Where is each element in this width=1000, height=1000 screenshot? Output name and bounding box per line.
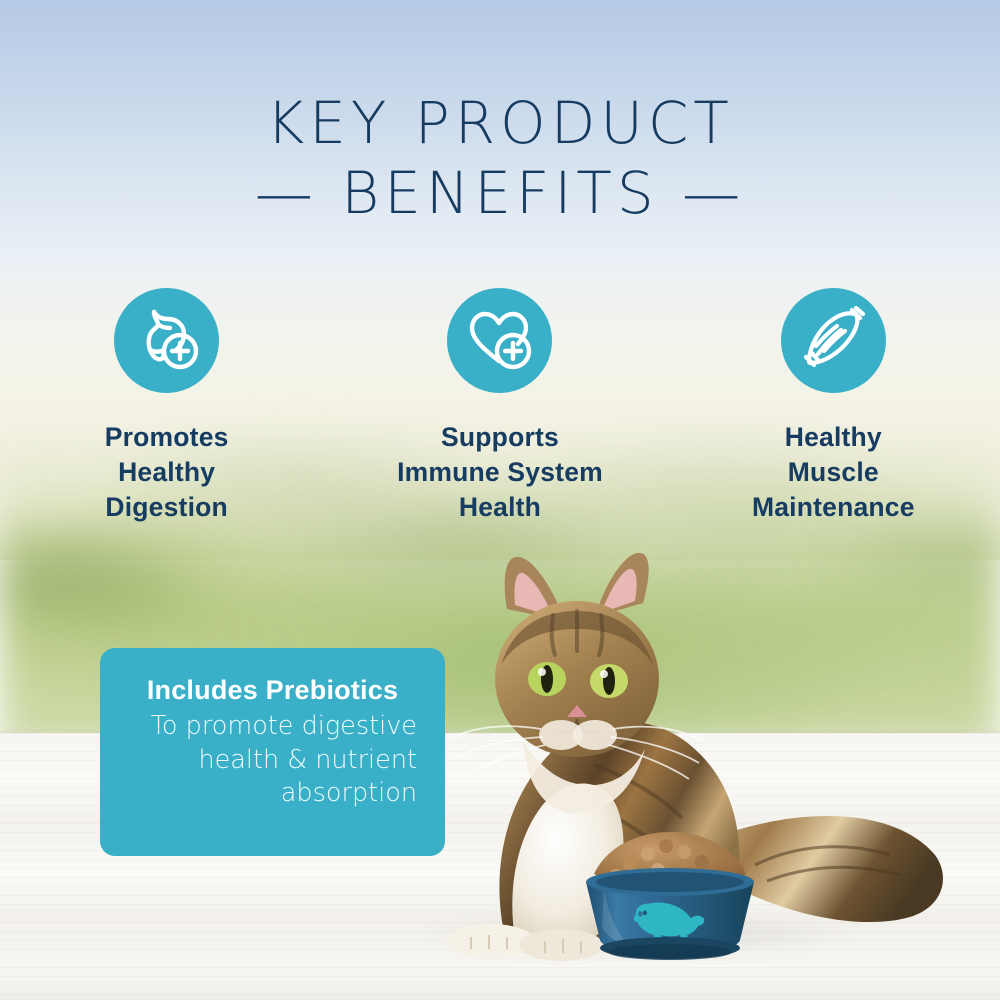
benefit-label-1-line-1: Promotes xyxy=(105,420,229,455)
benefit-icon-circle-2 xyxy=(447,288,552,393)
benefit-label-2-line-1: Supports xyxy=(397,420,603,455)
title-line-1: KEY PRODUCT xyxy=(0,92,1000,156)
benefits-row: Promotes Healthy Digestion xyxy=(0,288,1000,525)
benefit-label-2-line-2: Immune System xyxy=(397,455,603,490)
callout-heading: Includes Prebiotics xyxy=(122,674,423,706)
benefit-label-3-line-3: Maintenance xyxy=(752,490,915,525)
benefit-item-immune: Supports Immune System Health xyxy=(333,288,666,525)
callout-body-line-3: absorption xyxy=(122,777,417,810)
prebiotics-callout: Includes Prebiotics To promote digestive… xyxy=(100,648,445,856)
callout-body-line-2: health & nutrient xyxy=(122,744,417,777)
benefit-label-3: Healthy Muscle Maintenance xyxy=(752,420,915,525)
benefit-icon-circle-3 xyxy=(781,288,886,393)
food-bowl xyxy=(570,828,770,960)
benefit-item-muscle: Healthy Muscle Maintenance xyxy=(667,288,1000,525)
benefit-item-digestion: Promotes Healthy Digestion xyxy=(0,288,333,525)
benefit-label-2: Supports Immune System Health xyxy=(397,420,603,525)
benefit-label-2-line-3: Health xyxy=(397,490,603,525)
benefit-label-1: Promotes Healthy Digestion xyxy=(105,420,229,525)
title-line-2: — BENEFITS — xyxy=(0,162,1000,226)
heart-plus-icon xyxy=(461,299,539,382)
benefit-label-1-line-2: Healthy xyxy=(105,455,229,490)
callout-body-line-1: To promote digestive xyxy=(122,710,417,743)
benefit-label-3-line-2: Muscle xyxy=(752,455,915,490)
benefit-label-3-line-1: Healthy xyxy=(752,420,915,455)
stomach-plus-icon xyxy=(128,299,206,382)
muscle-icon xyxy=(794,299,872,382)
page-title: KEY PRODUCT — BENEFITS — xyxy=(0,92,1000,226)
benefits-graphic: KEY PRODUCT — BENEFITS — xyxy=(0,0,1000,1000)
callout-body: To promote digestive health & nutrient a… xyxy=(122,710,423,809)
benefit-label-1-line-3: Digestion xyxy=(105,490,229,525)
benefit-icon-circle-1 xyxy=(114,288,219,393)
